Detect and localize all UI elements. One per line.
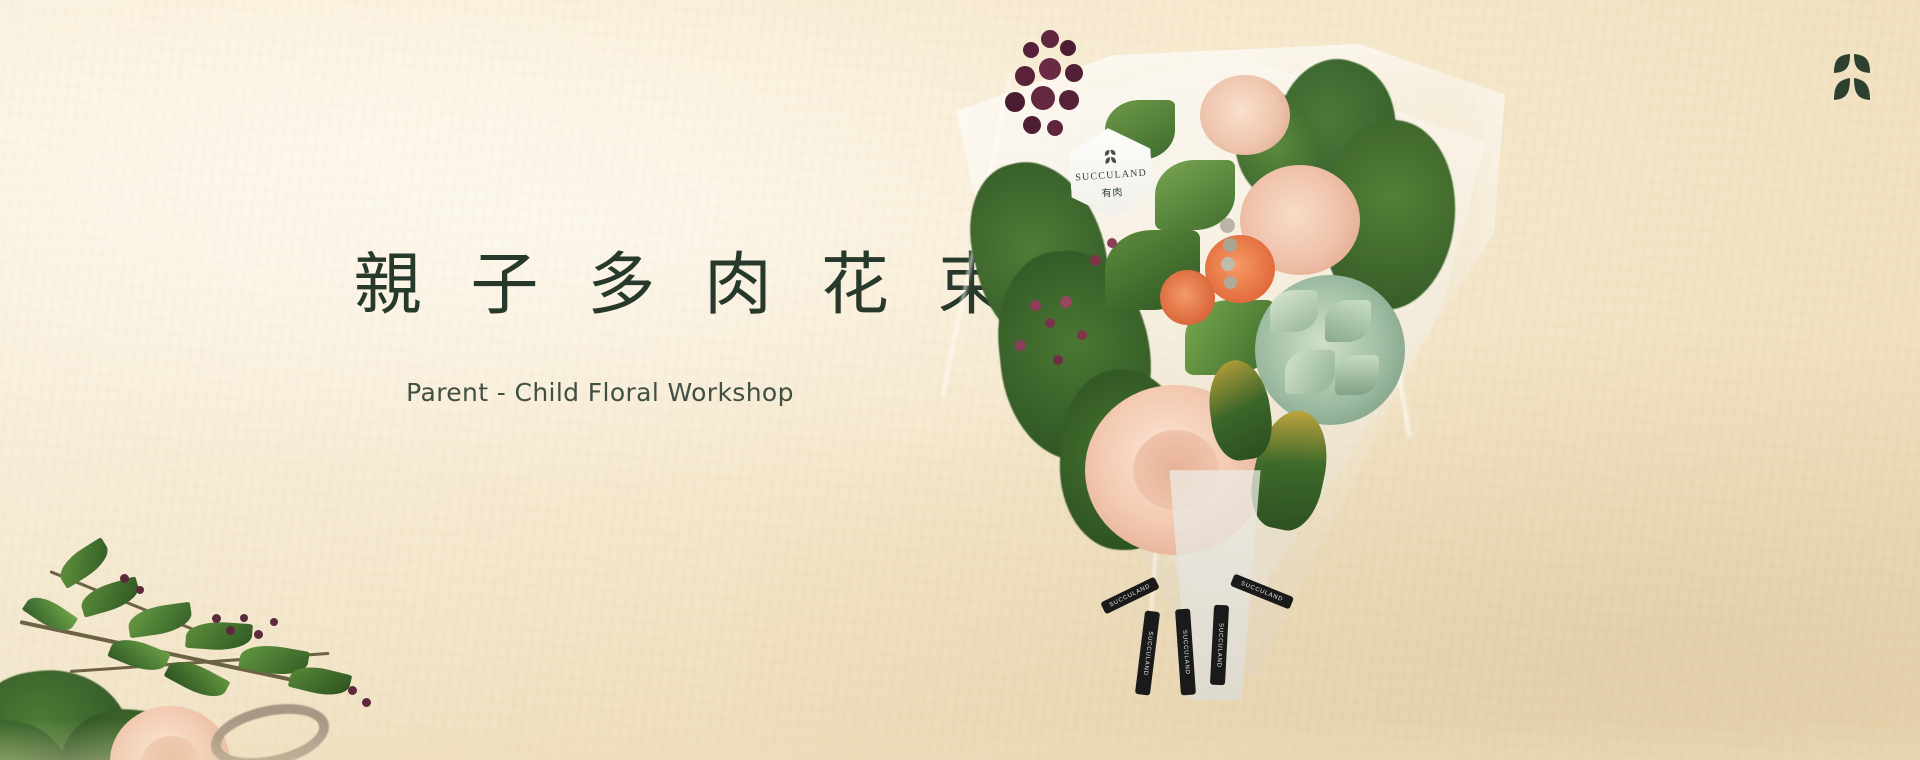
ribbon-band: SUCCULAND [1210, 605, 1229, 686]
berry-cluster [1059, 90, 1079, 110]
berry-cluster [1047, 120, 1063, 136]
ribbon-band: SUCCULAND [1230, 573, 1294, 609]
small-berry [136, 586, 144, 594]
berry-cluster [1065, 64, 1083, 82]
bouquet-ribbon: SUCCULAND SUCCULAND SUCCULAND SUCCULAND … [1100, 575, 1350, 695]
page-subtitle: Parent - Child Floral Workshop [340, 378, 860, 407]
succuland-leaf-logo-icon[interactable] [1824, 48, 1880, 112]
foliage-leaf [107, 632, 171, 678]
rope-wrap [205, 694, 335, 760]
small-berry [120, 574, 129, 583]
small-berry [1060, 296, 1072, 308]
berry-cluster [1023, 42, 1039, 58]
small-berry [1045, 318, 1055, 328]
berry-cluster [1031, 86, 1055, 110]
berry-cluster [1015, 66, 1035, 86]
foreground-greenery [0, 510, 480, 760]
hang-tag-brand-cn: 有肉 [1101, 183, 1124, 199]
berry-cluster [1041, 30, 1059, 48]
rose-flower [1205, 235, 1275, 303]
small-berry [1015, 340, 1026, 351]
small-berry [212, 614, 221, 623]
small-berry [348, 686, 357, 695]
ribbon-band: SUCCULAND [1175, 609, 1196, 696]
small-berry [254, 630, 263, 639]
small-berry [1030, 300, 1041, 311]
foliage-leaf [185, 620, 253, 653]
hero-banner: 親 子 多 肉 花 束 Parent - Child Floral Worksh… [0, 0, 1920, 760]
small-berry [226, 626, 235, 635]
succulent-petal [1270, 290, 1318, 332]
bouquet-photo: SUCCULAND 有肉 SUCCULAND SUCCULAND SUCCULA… [855, 0, 1575, 760]
berry-cluster [1039, 58, 1061, 80]
foliage-leaf [78, 576, 143, 618]
brunia-stem [1223, 238, 1237, 252]
berry-cluster [1060, 40, 1076, 56]
berry-cluster [1005, 92, 1025, 112]
rose-flower [1160, 270, 1215, 325]
ribbon-band: SUCCULAND [1100, 577, 1160, 615]
hang-tag-brand: SUCCULAND [1075, 167, 1148, 183]
small-berry [1053, 355, 1063, 365]
succulent-petal [1325, 300, 1371, 342]
carnation-flower [1200, 75, 1290, 155]
hero-text-block: 親 子 多 肉 花 束 Parent - Child Floral Worksh… [340, 246, 860, 407]
berry-cluster [1023, 116, 1041, 134]
small-berry [1077, 330, 1087, 340]
succulent-petal [1285, 350, 1335, 394]
small-berry [270, 618, 278, 626]
brunia-stem [1220, 218, 1235, 233]
ribbon-band: SUCCULAND [1135, 610, 1160, 695]
small-berry [240, 614, 248, 622]
small-berry [1090, 255, 1101, 266]
brunia-stem [1224, 276, 1237, 289]
small-berry [1107, 238, 1117, 248]
small-berry [362, 698, 371, 707]
page-title: 親 子 多 肉 花 束 [340, 246, 860, 326]
succuland-leaf-logo-icon [1101, 147, 1119, 167]
brunia-stem [1221, 257, 1235, 271]
succulent-petal [1335, 355, 1379, 395]
foliage-leaf [53, 537, 114, 589]
